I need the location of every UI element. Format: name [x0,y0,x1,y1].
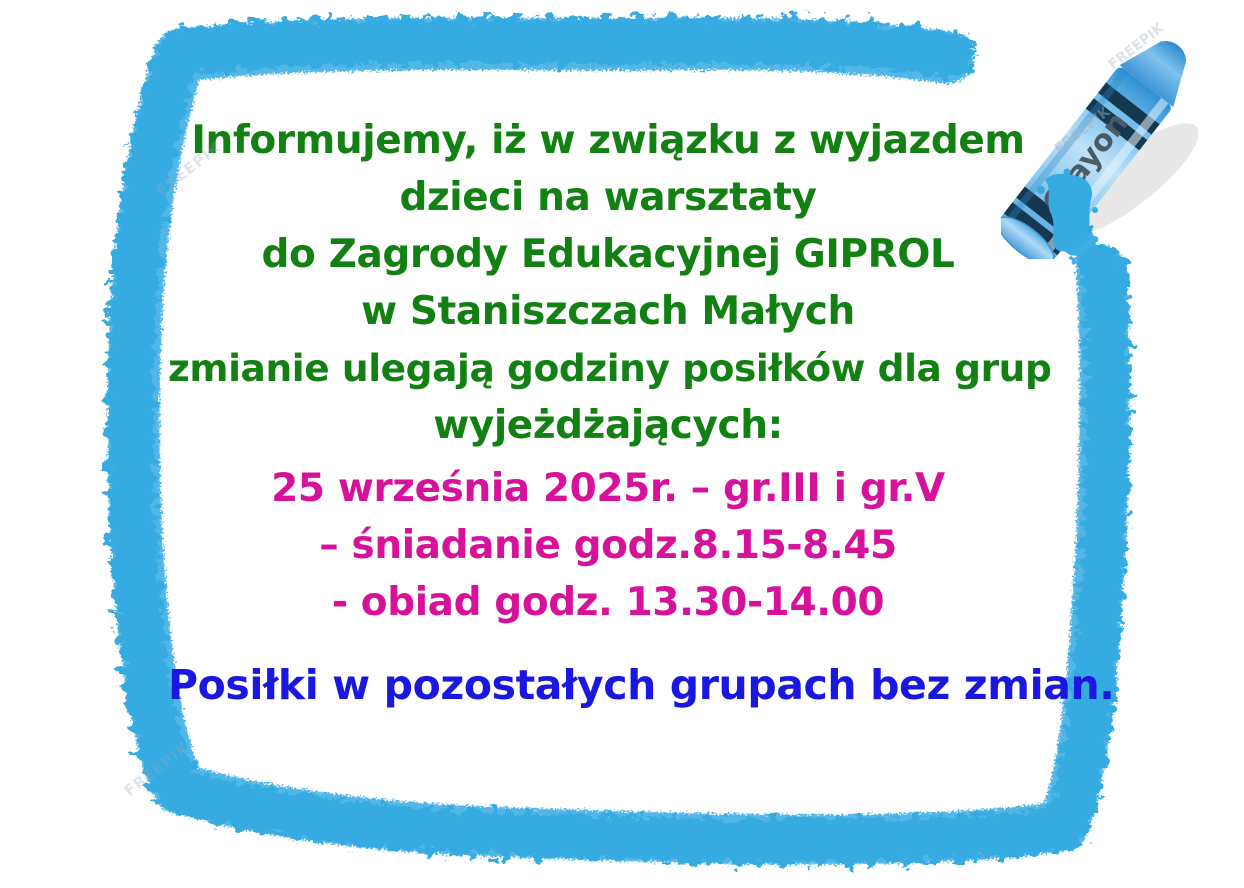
pink-line-1: 25 września 2025r. – gr.III i gr.V [168,460,1048,517]
watermark-left-bottom: FREEPIK [121,738,193,800]
pink-line-2: – śniadanie godz.8.15-8.45 [168,517,1048,574]
announcement-text-block: Informujemy, iż w związku z wyjazdem dzi… [168,112,1048,713]
poster-canvas: Crayon FREEPIK FREEPIK Informujemy, iż w… [0,0,1244,888]
green-line-2: dzieci na warsztaty [168,169,1048,226]
green-line-3: do Zagrody Edukacyjnej GIPROL [168,226,1048,283]
blue-line-1: Posiłki w pozostałych grupach bez zmian. [168,657,1048,713]
pink-paragraph: 25 września 2025r. – gr.III i gr.V – śni… [168,460,1048,631]
green-line-1: Informujemy, iż w związku z wyjazdem [168,112,1048,169]
green-line-5: zmianie ulegają godziny posiłków dla gru… [168,340,1048,397]
green-line-6: wyjeżdżających: [168,397,1048,454]
blue-paragraph: Posiłki w pozostałych grupach bez zmian. [168,657,1048,713]
pink-line-3: - obiad godz. 13.30-14.00 [168,574,1048,631]
green-line-4: w Staniszczach Małych [168,283,1048,340]
green-paragraph: Informujemy, iż w związku z wyjazdem dzi… [168,112,1048,454]
